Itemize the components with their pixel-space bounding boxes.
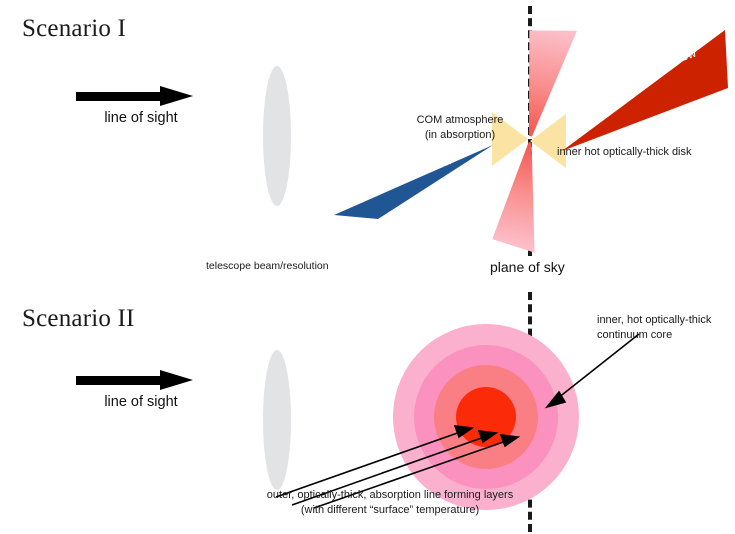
scenario-2-title: Scenario II — [22, 305, 135, 333]
com-atmosphere-caption-line1: COM atmosphere — [404, 113, 516, 128]
inner-disk-caption: inner hot optically-thick disk — [557, 145, 692, 160]
scenario-1-line-of-sight-label: line of sight — [76, 110, 206, 126]
layers-caption-line2: (with different “surface” temperature) — [265, 503, 515, 518]
telescope-beam-label: telescope beam/resolution — [206, 260, 329, 272]
continuum-core-caption-line2: continuum core — [597, 328, 711, 343]
scenario-2-line-of-sight-label: line of sight — [76, 394, 206, 410]
red-shifted-outflow-cone — [560, 28, 730, 153]
continuum-core-caption-line1: inner, hot optically-thick — [597, 313, 711, 328]
arrow-shaft — [76, 92, 164, 101]
layers-caption-line1: outer, optically-thick, absorption line … — [265, 488, 515, 503]
continuum-core-caption: inner, hot optically-thick continuum cor… — [597, 313, 711, 343]
arrow-shaft-2 — [76, 376, 164, 385]
line-of-sight-arrow-icon-2 — [76, 370, 196, 390]
layers-caption: outer, optically-thick, absorption line … — [265, 488, 515, 518]
scenario-2-line-of-sight: line of sight — [76, 370, 206, 410]
scenario-1-line-of-sight: line of sight — [76, 86, 206, 126]
scenario-1-title: Scenario I — [22, 15, 126, 43]
arrow-head-2 — [160, 370, 193, 390]
telescope-beam-ellipse-1 — [263, 66, 291, 206]
com-atmosphere-caption-line2: (in absorption) — [404, 128, 516, 143]
plane-of-sky-label: plane of sky — [490, 259, 565, 275]
diagram-canvas: Scenario I line of sight telescope beam/… — [0, 0, 735, 534]
com-atmosphere-caption: COM atmosphere (in absorption) — [404, 113, 516, 143]
arrow-head — [160, 86, 193, 106]
line-of-sight-arrow-icon — [76, 86, 196, 106]
